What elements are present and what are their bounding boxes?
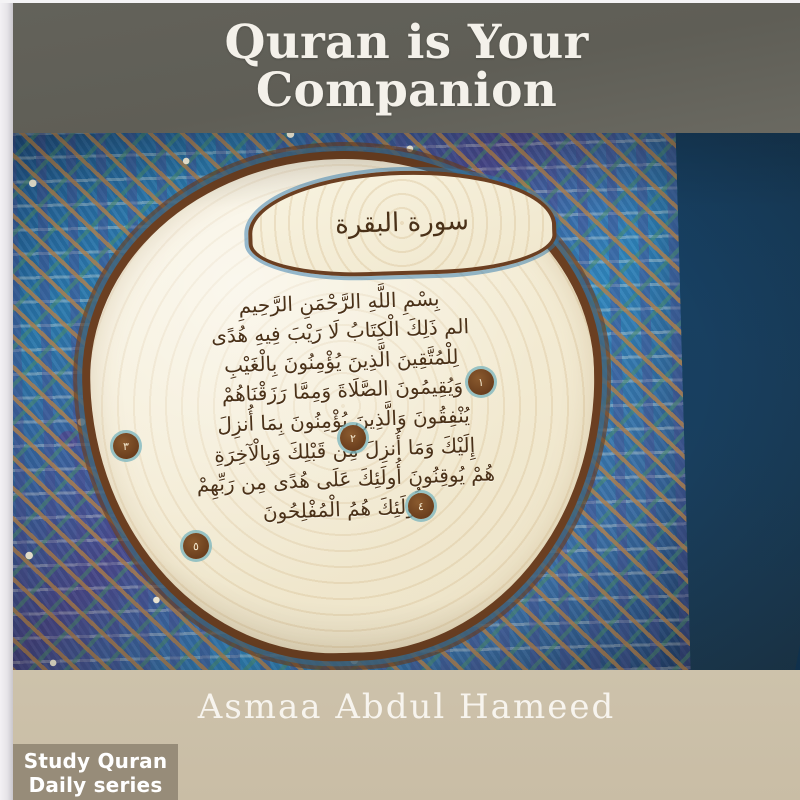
page-title: Quran is Your Companion bbox=[195, 19, 619, 115]
ayah-marker-3: ٣ bbox=[113, 433, 139, 459]
top-hairline bbox=[0, 0, 800, 3]
title-line-2: Companion bbox=[225, 67, 589, 115]
verse-line: وَيُقِيمُونَ الصَّلَاةَ وَمِمَّا رَزَقْن… bbox=[221, 374, 463, 409]
header-band: Quran is Your Companion bbox=[13, 3, 800, 133]
verse-line: وَأُولَئِكَ هُمُ الْمُفْلِحُونَ bbox=[262, 493, 431, 525]
verse-line: بِسْمِ اللَّهِ الرَّحْمَنِ الرَّحِيمِ bbox=[238, 286, 440, 319]
ayah-marker-5: ٥ bbox=[183, 533, 209, 559]
left-page-edge-strip bbox=[0, 0, 13, 800]
surah-name: سورة البقرة bbox=[335, 206, 470, 240]
series-badge: Study Quran Daily series bbox=[13, 744, 178, 800]
ayah-marker-1: ١ bbox=[468, 369, 494, 395]
series-badge-line-1: Study Quran bbox=[24, 750, 168, 774]
title-line-1: Quran is Your bbox=[225, 19, 589, 67]
ayah-marker-2: ٢ bbox=[340, 425, 366, 451]
book-cover: Quran is Your Companion بِسْمِ اللَّهِ ا… bbox=[0, 0, 800, 800]
ayah-marker-4: ٤ bbox=[408, 493, 434, 519]
author-name: Asmaa Abdul Hameed bbox=[13, 687, 800, 727]
series-badge-line-2: Daily series bbox=[29, 774, 163, 798]
quran-page-photo: بِسْمِ اللَّهِ الرَّحْمَنِ الرَّحِيمِ ال… bbox=[13, 133, 800, 670]
verse-line: لِلْمُتَّقِينَ الَّذِينَ يُؤْمِنُونَ بِا… bbox=[224, 344, 459, 379]
